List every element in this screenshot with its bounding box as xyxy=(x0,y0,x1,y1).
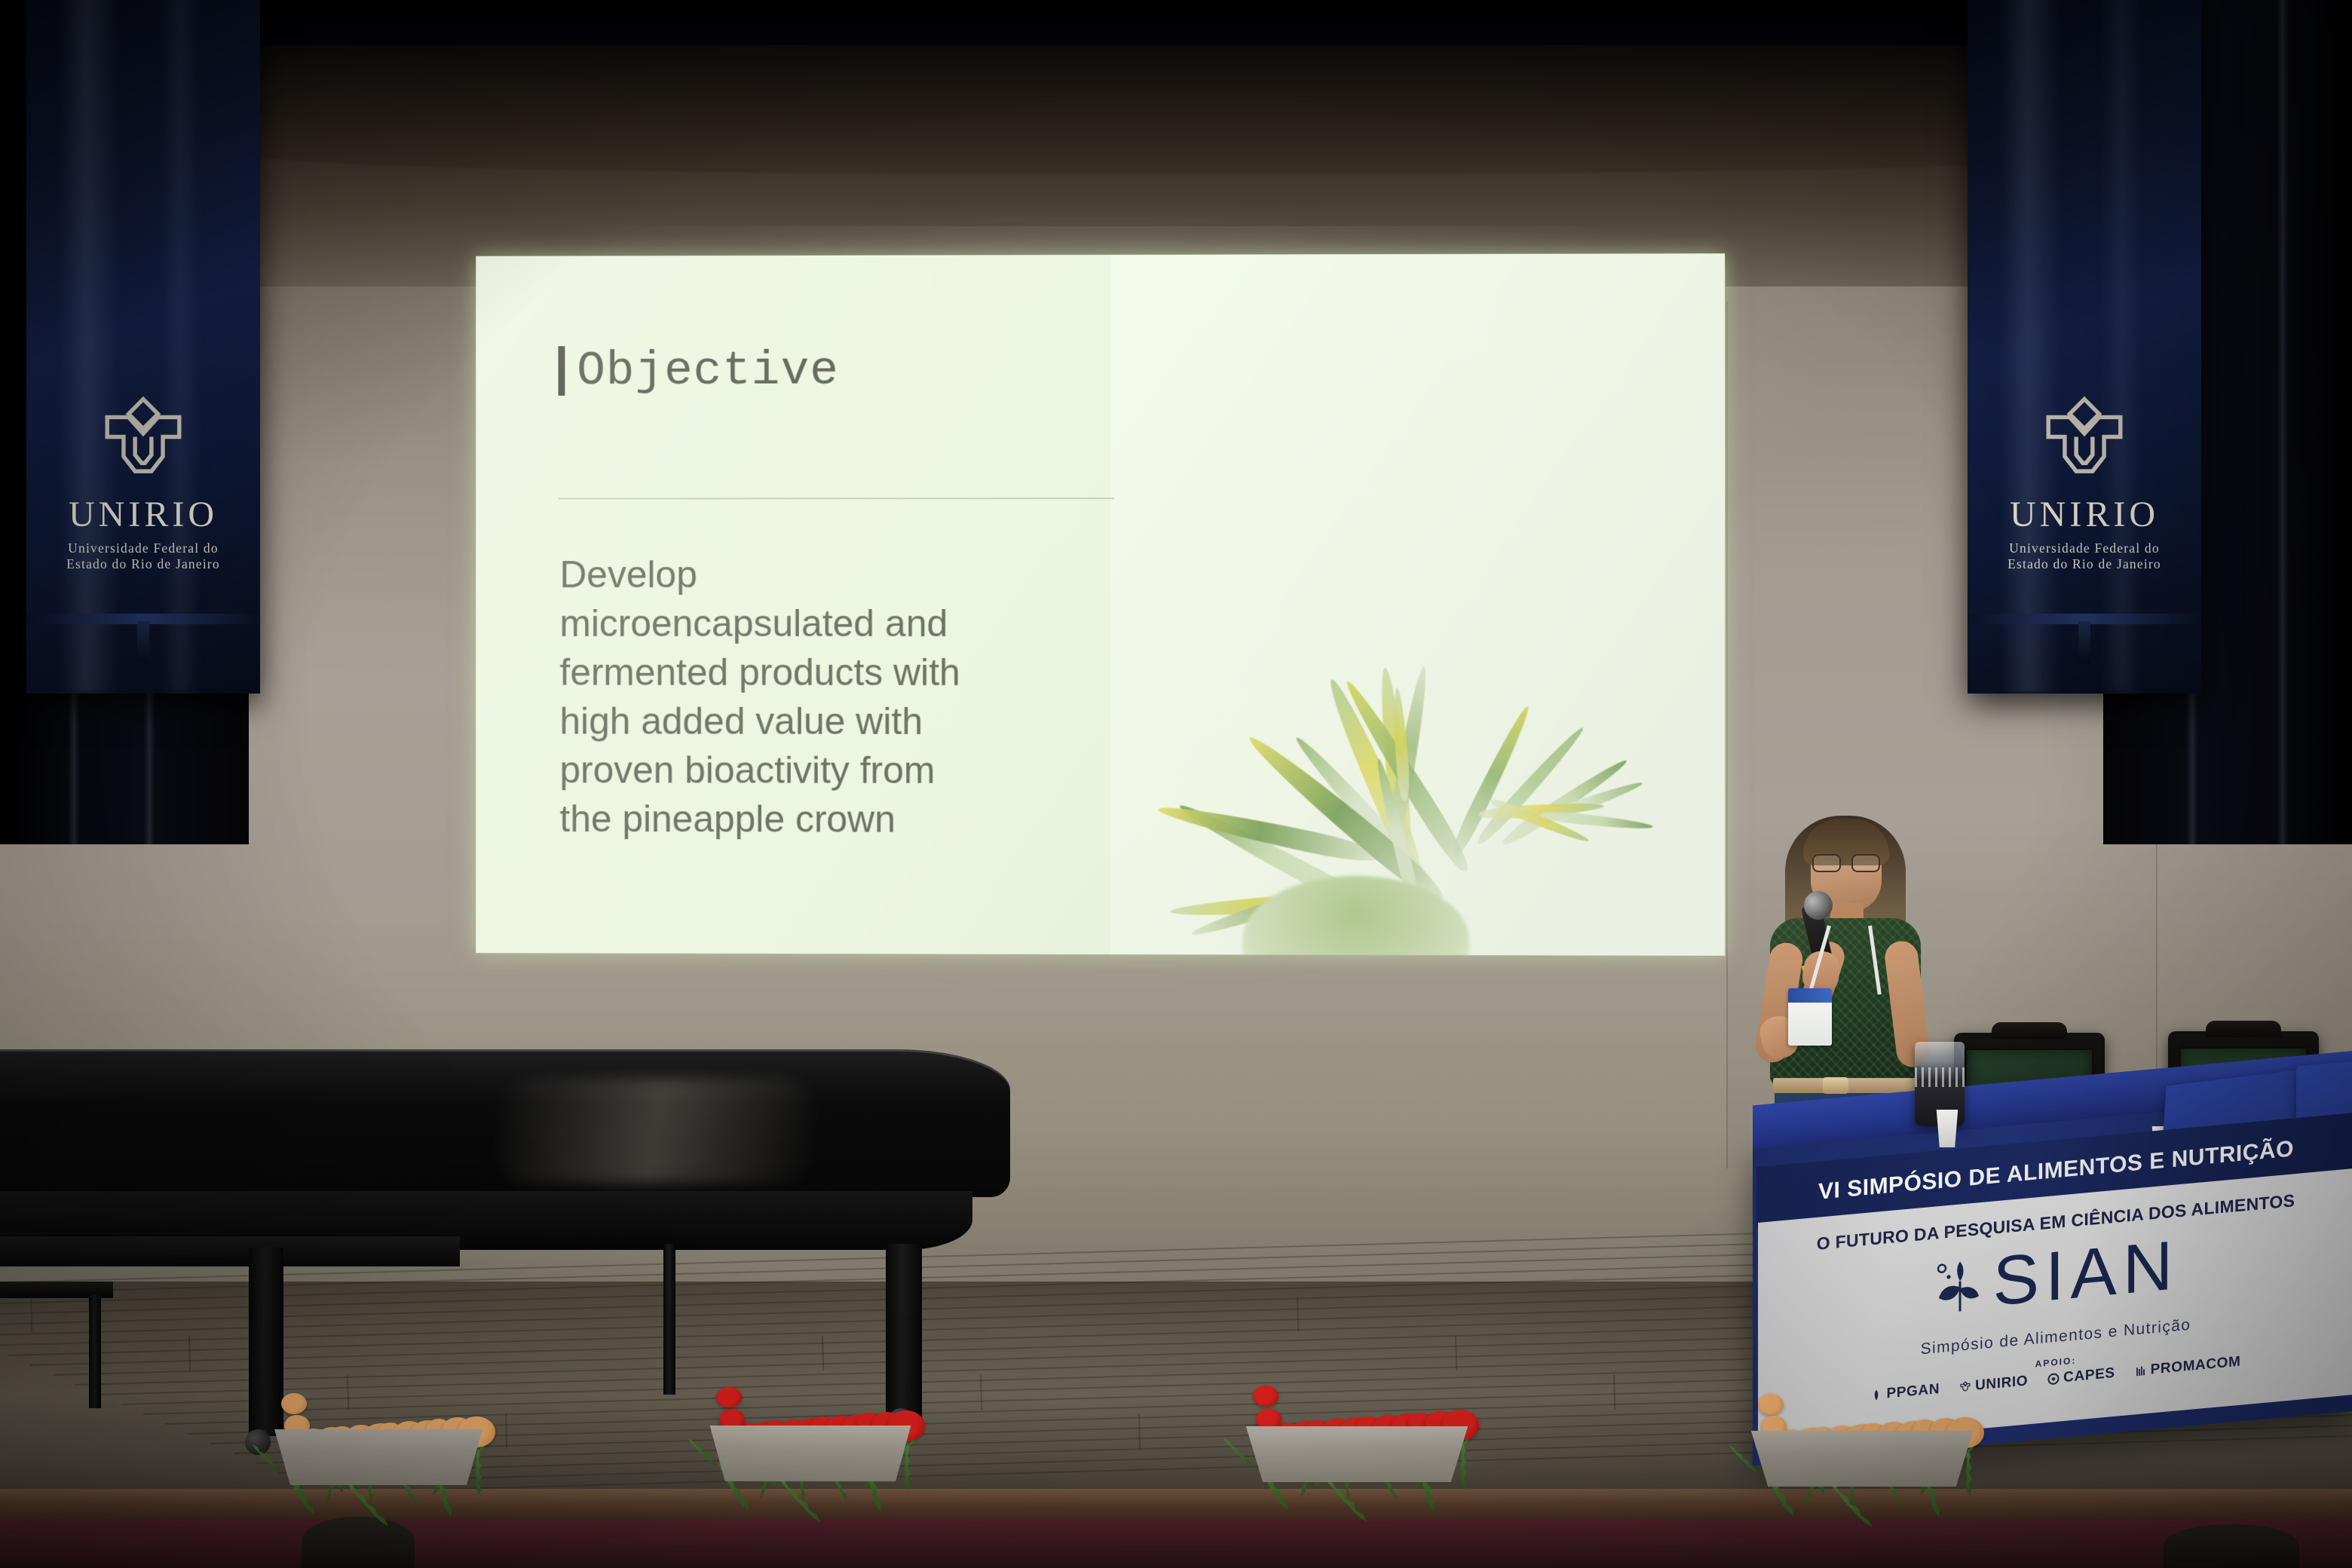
unirio-subtitle: Universidade Federal do Estado do Rio de… xyxy=(1975,541,2194,573)
piano-keybed xyxy=(0,1236,460,1266)
unirio-logo-icon xyxy=(93,394,193,489)
slide-text-panel: Objective Develop microencapsulated and … xyxy=(476,255,1110,954)
floor-plank-seam xyxy=(1613,1375,1615,1410)
slide-body-line: fermented products with xyxy=(559,648,1055,697)
sian-leaf-icon xyxy=(1933,1253,1987,1318)
glasses-icon xyxy=(1812,854,1880,869)
slide-illustration-panel xyxy=(1110,253,1725,956)
badge-header xyxy=(1788,988,1832,1003)
piano-pedal-lyre xyxy=(663,1244,675,1395)
promacom-icon xyxy=(2135,1364,2147,1377)
capes-icon xyxy=(2047,1373,2060,1386)
flower-planter xyxy=(1236,1355,1478,1482)
flower-planter xyxy=(701,1357,920,1481)
slide-body-line: Develop xyxy=(559,550,1055,599)
slide-title: Objective xyxy=(577,347,839,394)
banner-gloss xyxy=(2103,0,2141,694)
slide-divider-rule xyxy=(558,498,1114,499)
unirio-wordmark: UNIRIO xyxy=(69,497,218,533)
slide-body-line: proven bioactivity from xyxy=(559,746,1055,795)
unirio-subtitle: Universidade Federal do Estado do Rio de… xyxy=(34,541,253,573)
sponsor-label: CAPES xyxy=(2063,1365,2115,1386)
slide-body-line: the pineapple crown xyxy=(559,795,1055,844)
chair-crest xyxy=(1992,1022,2067,1039)
unirio-banner-right: UNIRIO Universidade Federal do Estado do… xyxy=(1968,0,2201,694)
slide-body-line: high added value with xyxy=(559,697,1055,746)
unirio-subtitle-line2: Estado do Rio de Janeiro xyxy=(1975,556,2194,573)
wall-seam xyxy=(1726,302,1728,1168)
title-accent-bar xyxy=(558,346,565,396)
belt-buckle xyxy=(1823,1077,1848,1094)
audience-head xyxy=(302,1517,415,1568)
sponsor-capes: CAPES xyxy=(2047,1365,2115,1388)
banner-gloss xyxy=(59,0,120,694)
planter-box xyxy=(1741,1431,1983,1487)
flower-bloom xyxy=(1253,1386,1279,1407)
proscenium-arch xyxy=(249,45,2103,173)
piano-bench-leg xyxy=(89,1295,101,1408)
unirio-subtitle-line1: Universidade Federal do xyxy=(34,541,253,557)
conference-badge xyxy=(1788,988,1832,1046)
unirio-wordmark: UNIRIO xyxy=(2010,497,2159,533)
floor-plank-seam xyxy=(1297,1297,1299,1331)
sponsor-label: UNIRIO xyxy=(1975,1373,2028,1394)
planter-box xyxy=(1236,1426,1478,1482)
slide-body-line: microencapsulated and xyxy=(559,599,1055,648)
flower-planter xyxy=(1741,1364,1983,1487)
house-seating-area xyxy=(0,1519,2352,1568)
flower-planter xyxy=(265,1364,492,1485)
banner-gloss xyxy=(2000,0,2061,694)
floor-plank-seam xyxy=(1138,1414,1141,1449)
banner-tail xyxy=(137,621,149,663)
unirio-banner-left: UNIRIO Universidade Federal do Estado do… xyxy=(26,0,260,694)
flower-bloom xyxy=(281,1393,307,1414)
pitcher-lace-cover xyxy=(1915,1067,1965,1087)
unirio-subtitle-line1: Universidade Federal do xyxy=(1975,541,2194,557)
banner-gloss xyxy=(162,0,200,694)
floor-plank-seam xyxy=(188,1336,191,1370)
floor-plank-seam xyxy=(505,1414,507,1449)
slide-title-group: Objective xyxy=(558,346,838,396)
flower-bloom xyxy=(716,1387,742,1408)
unirio-logo-icon xyxy=(2035,394,2134,489)
auditorium-scene: UNIRIO Universidade Federal do Estado do… xyxy=(0,0,2352,1568)
projected-slide: Objective Develop microencapsulated and … xyxy=(476,253,1725,956)
audience-head xyxy=(2164,1524,2299,1568)
chair-crest xyxy=(2206,1021,2281,1037)
banner-tail xyxy=(2078,621,2090,663)
flower-bloom xyxy=(1758,1394,1784,1415)
planter-box xyxy=(701,1426,920,1481)
planter-box xyxy=(265,1429,492,1485)
slide-body-text: Develop microencapsulated and fermented … xyxy=(559,550,1055,844)
unirio-subtitle-line2: Estado do Rio de Janeiro xyxy=(34,556,253,573)
piano-lid-reflection xyxy=(498,1078,814,1184)
sian-wordmark: SIAN xyxy=(1993,1233,2179,1315)
